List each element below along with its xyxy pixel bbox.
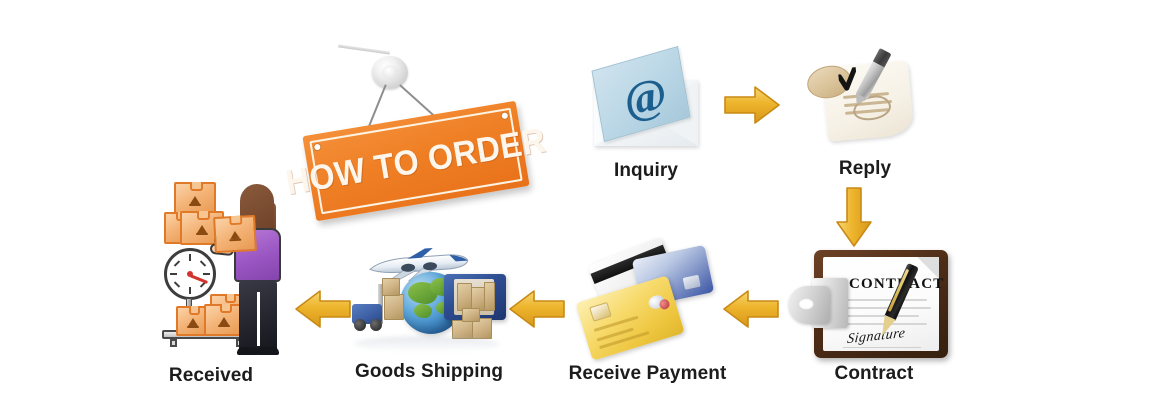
step-label-goods-shipping: Goods Shipping [343, 361, 515, 383]
arrow-left-svg [294, 288, 352, 330]
person-legs [239, 280, 277, 352]
clipboard-clip-hole [798, 298, 814, 310]
contract-signature-line [843, 347, 921, 348]
fragile-mark-icon [190, 196, 200, 204]
step-label-inquiry: Inquiry [590, 160, 702, 182]
plane-globe-truck-forklift-icon [348, 248, 508, 358]
dial-tick [174, 260, 180, 266]
sign-mount-rod [338, 44, 390, 54]
arrow-left-icon [722, 288, 780, 335]
forklift-wheel [370, 319, 382, 331]
dial-tick [203, 273, 210, 275]
sign-hook-knob [372, 56, 408, 89]
crate-on-fork [384, 294, 404, 320]
forklift-wheel [354, 319, 366, 331]
crate-on-fork [382, 278, 400, 296]
at-symbol-icon: @ [620, 71, 670, 124]
crate [484, 282, 495, 311]
dial-tick [200, 260, 206, 266]
contract-signature: Signature [846, 326, 906, 348]
person-shoe [257, 347, 279, 355]
crate-ground [462, 308, 480, 322]
step-label-reply: Reply [805, 158, 925, 180]
email-envelope-icon: @ [590, 58, 702, 150]
scroll-checkmark-pen-icon [805, 50, 925, 150]
how-to-order-sign: HOW TO ORDER [300, 40, 535, 235]
step-label-received: Received [145, 365, 277, 387]
person-shoe [237, 347, 259, 355]
card-number-line [599, 331, 650, 349]
sign-hole-right [500, 111, 509, 120]
contract-rule [847, 299, 927, 301]
fragile-mark-icon [188, 318, 198, 326]
card-logo-dot [658, 298, 670, 310]
step-label-contract: Contract [800, 363, 948, 385]
held-box [213, 215, 257, 253]
arrow-down-icon [834, 186, 874, 253]
floor-reflection [354, 336, 500, 352]
sign-title: HOW TO ORDER [284, 122, 549, 200]
arrow-left-svg [722, 288, 780, 330]
arrow-right-icon [723, 84, 781, 131]
globe-landmass [414, 304, 432, 318]
scale-foot [170, 339, 177, 347]
card-chip [589, 302, 612, 322]
person-boxes-scale-icon [158, 178, 293, 358]
credit-card-gold [575, 275, 684, 360]
dial-tick [189, 287, 191, 294]
arrow-left-svg [508, 288, 566, 330]
arrow-left-icon [294, 288, 352, 335]
weighing-scale-dial [164, 248, 216, 300]
fragile-mark-icon [219, 317, 229, 325]
dial-tick [170, 273, 177, 275]
dial-tick [189, 254, 191, 261]
card-chip [683, 275, 701, 290]
arrow-right-svg [723, 84, 781, 126]
sign-board: HOW TO ORDER [302, 101, 529, 221]
crate [457, 283, 472, 311]
arrow-down-svg [834, 186, 874, 248]
step-label-receive-payment: Receive Payment [565, 363, 730, 385]
person-receiving-icon [230, 184, 292, 352]
sign-hole-left [313, 142, 322, 151]
clipboard-contract-pen-icon: CONTRACT Signature [800, 250, 948, 360]
arrow-left-icon [508, 288, 566, 335]
how-to-order-infographic: HOW TO ORDER @ Inquiry [0, 0, 1151, 414]
fragile-mark-icon [230, 230, 240, 239]
fragile-mark-icon [197, 225, 207, 233]
credit-cards-icon [580, 248, 710, 353]
checkmark-icon [838, 67, 859, 95]
dial-tick [174, 281, 180, 287]
dial-hub [187, 271, 193, 277]
